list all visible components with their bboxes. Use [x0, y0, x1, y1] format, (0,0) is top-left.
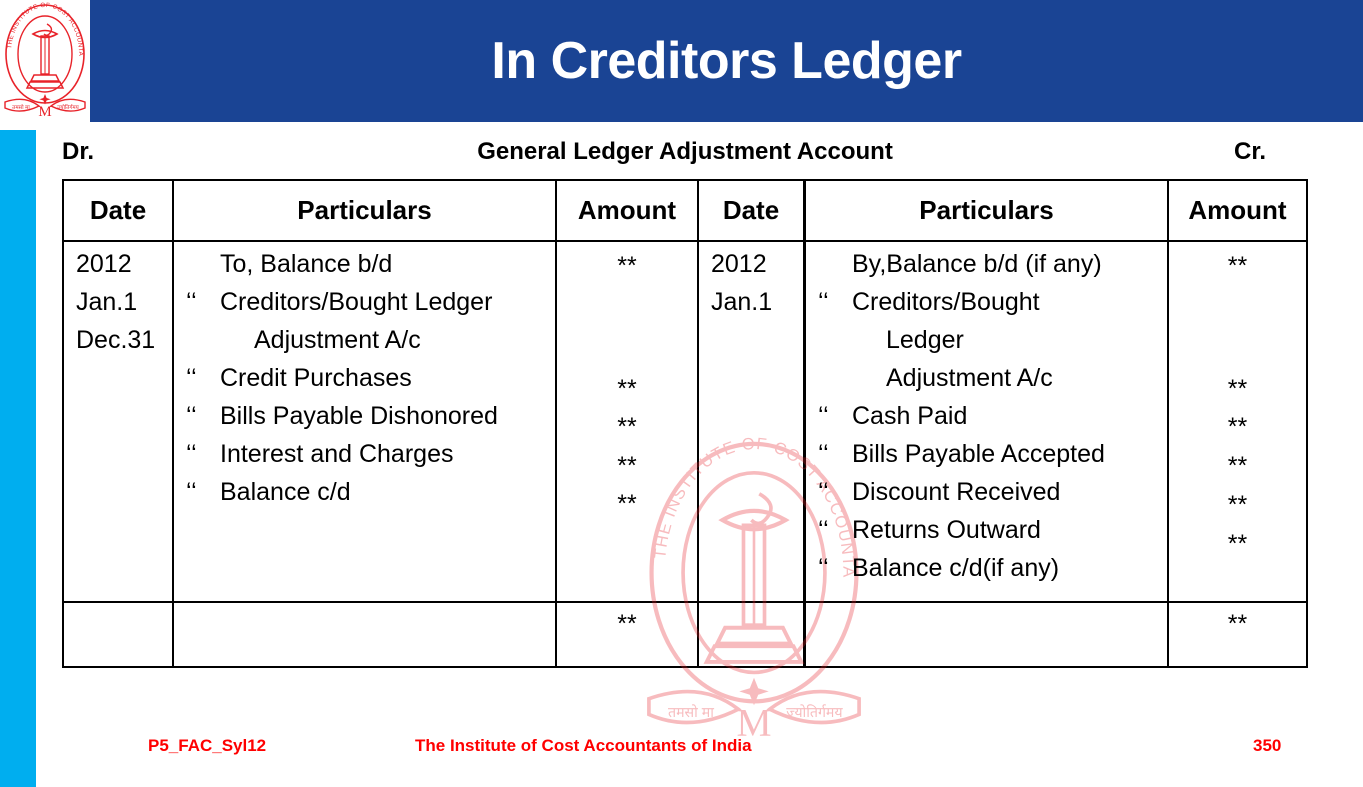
ditto-mark: ‘‘	[818, 283, 852, 321]
credit-amount-cell: ** ** ** ** ** **	[1169, 242, 1306, 601]
ledger-entry-text: Bills Payable Dishonored	[220, 402, 498, 430]
ditto-mark: ‘‘	[186, 359, 220, 397]
ledger-entry-text: Interest and Charges	[220, 440, 453, 468]
ledger-entry-text: Ledger	[886, 326, 964, 354]
ledger-entry-text: Adjustment A/c	[254, 326, 421, 354]
ledger-entry-text: Credit Purchases	[220, 364, 412, 392]
debit-amount-value: **	[557, 370, 697, 408]
institute-logo-box: THE INSTITUTE OF COST ACCOUNTANTS OF IND…	[0, 0, 90, 122]
ledger-entry-text: To, Balance b/d	[220, 250, 392, 278]
ledger-entry-text: By,Balance b/d (if any)	[852, 250, 1102, 278]
page-title: In Creditors Ledger	[90, 0, 1363, 122]
ledger-entry-line: ‘‘Credit Purchases	[186, 359, 555, 397]
debit-amount-value: **	[557, 485, 697, 523]
ditto-mark: ‘‘	[186, 397, 220, 435]
debit-date-line: Dec.31	[76, 321, 172, 359]
ledger-entry-line: ‘‘Cash Paid	[818, 397, 1167, 435]
credit-side-label: Cr.	[1234, 138, 1266, 166]
ditto-mark: ‘‘	[186, 435, 220, 473]
column-header-date-debit: Date	[64, 181, 172, 240]
ledger-entry-line: Adjustment A/c	[818, 359, 1167, 397]
column-header-amount-debit: Amount	[557, 181, 697, 240]
credit-date-cell: 2012 Jan.1	[699, 245, 803, 321]
credit-date-line: Jan.1	[711, 283, 803, 321]
debit-total-value: **	[557, 605, 697, 643]
ledger-entry-text: Adjustment A/c	[886, 364, 1053, 392]
ledger-entry-line: ‘‘Balance c/d	[186, 473, 555, 511]
credit-amount-value: **	[1169, 447, 1306, 485]
debit-date-line: Jan.1	[76, 283, 172, 321]
ledger-table: Date Particulars Amount Date Particulars…	[62, 179, 1308, 668]
ditto-mark: ‘‘	[818, 435, 852, 473]
ledger-caption: Dr. General Ledger Adjustment Account Cr…	[62, 138, 1308, 174]
ledger-entry-line: ‘‘Balance c/d(if any)	[818, 549, 1167, 587]
debit-amount-value: **	[557, 408, 697, 446]
ledger-entry-text: Creditors/Bought Ledger	[220, 288, 492, 316]
ditto-mark: ‘‘	[186, 473, 220, 511]
ledger-entry-line: ‘‘Discount Received	[818, 473, 1167, 511]
footer-page-number: 350	[1253, 736, 1281, 756]
svg-text:तमसो मा: तमसो मा	[12, 104, 30, 111]
debit-date-line: 2012	[76, 245, 172, 283]
ledger-entry-line: ‘‘Creditors/Bought Ledger	[186, 283, 555, 321]
ledger-entry-text: Returns Outward	[852, 516, 1041, 544]
ledger-entry-text: Balance c/d(if any)	[852, 554, 1059, 582]
ledger-entry-line: ‘‘Returns Outward	[818, 511, 1167, 549]
svg-text:ज्योतिर्गमय: ज्योतिर्गमय	[57, 104, 79, 111]
credit-amount-value: **	[1169, 486, 1306, 524]
ledger-entry-line: Ledger	[818, 321, 1167, 359]
debit-amount-cell: ** ** ** ** **	[557, 242, 697, 601]
ledger-entry-line: To, Balance b/d	[186, 245, 555, 283]
credit-amount-value: **	[1169, 370, 1306, 408]
credit-amount-value: **	[1169, 525, 1306, 563]
ledger-entry-line: ‘‘Bills Payable Accepted	[818, 435, 1167, 473]
ledger-entry-text: Bills Payable Accepted	[852, 440, 1105, 468]
credit-total-value: **	[1169, 605, 1306, 643]
ledger-account-name: General Ledger Adjustment Account	[62, 138, 1308, 166]
ledger-entry-line: ‘‘Interest and Charges	[186, 435, 555, 473]
ledger-entry-line: ‘‘Bills Payable Dishonored	[186, 397, 555, 435]
debit-date-cell: 2012 Jan.1 Dec.31	[64, 245, 172, 359]
credit-date-line: 2012	[711, 245, 803, 283]
ditto-mark: ‘‘	[818, 549, 852, 587]
column-header-amount-credit: Amount	[1169, 181, 1306, 240]
ditto-mark: ‘‘	[818, 511, 852, 549]
column-header-particulars-credit: Particulars	[806, 181, 1167, 240]
ditto-mark: ‘‘	[818, 397, 852, 435]
institute-logo-icon: THE INSTITUTE OF COST ACCOUNTANTS OF IND…	[3, 2, 87, 120]
ledger-entry-line: By,Balance b/d (if any)	[818, 245, 1167, 283]
ledger-entry-text: Creditors/Bought	[852, 288, 1040, 316]
ledger-entry-line: ‘‘Creditors/Bought	[818, 283, 1167, 321]
left-accent-strip	[0, 130, 36, 787]
ditto-mark: ‘‘	[818, 473, 852, 511]
debit-particulars-cell: To, Balance b/d ‘‘Creditors/Bought Ledge…	[174, 245, 555, 511]
ledger-entry-line: Adjustment A/c	[186, 321, 555, 359]
column-header-date-credit: Date	[699, 181, 803, 240]
ledger-entry-text: Balance c/d	[220, 478, 351, 506]
debit-amount-value: **	[557, 447, 697, 485]
column-header-particulars-debit: Particulars	[174, 181, 555, 240]
svg-text:M: M	[38, 104, 51, 120]
ledger-entry-text: Discount Received	[852, 478, 1060, 506]
footer-organization: The Institute of Cost Accountants of Ind…	[415, 736, 752, 756]
svg-text:ज्योतिर्गमय: ज्योतिर्गमय	[786, 704, 843, 721]
debit-amount-value: **	[557, 247, 697, 285]
credit-particulars-cell: By,Balance b/d (if any) ‘‘Creditors/Boug…	[806, 245, 1167, 587]
ledger-entry-text: Cash Paid	[852, 402, 967, 430]
footer: P5_FAC_Syl12 The Institute of Cost Accou…	[0, 736, 1363, 770]
footer-paper-code: P5_FAC_Syl12	[148, 736, 266, 756]
credit-amount-value: **	[1169, 247, 1306, 285]
total-row-divider	[64, 601, 1306, 603]
credit-amount-value: **	[1169, 408, 1306, 446]
svg-text:तमसो मा: तमसो मा	[668, 704, 714, 721]
ditto-mark: ‘‘	[186, 283, 220, 321]
